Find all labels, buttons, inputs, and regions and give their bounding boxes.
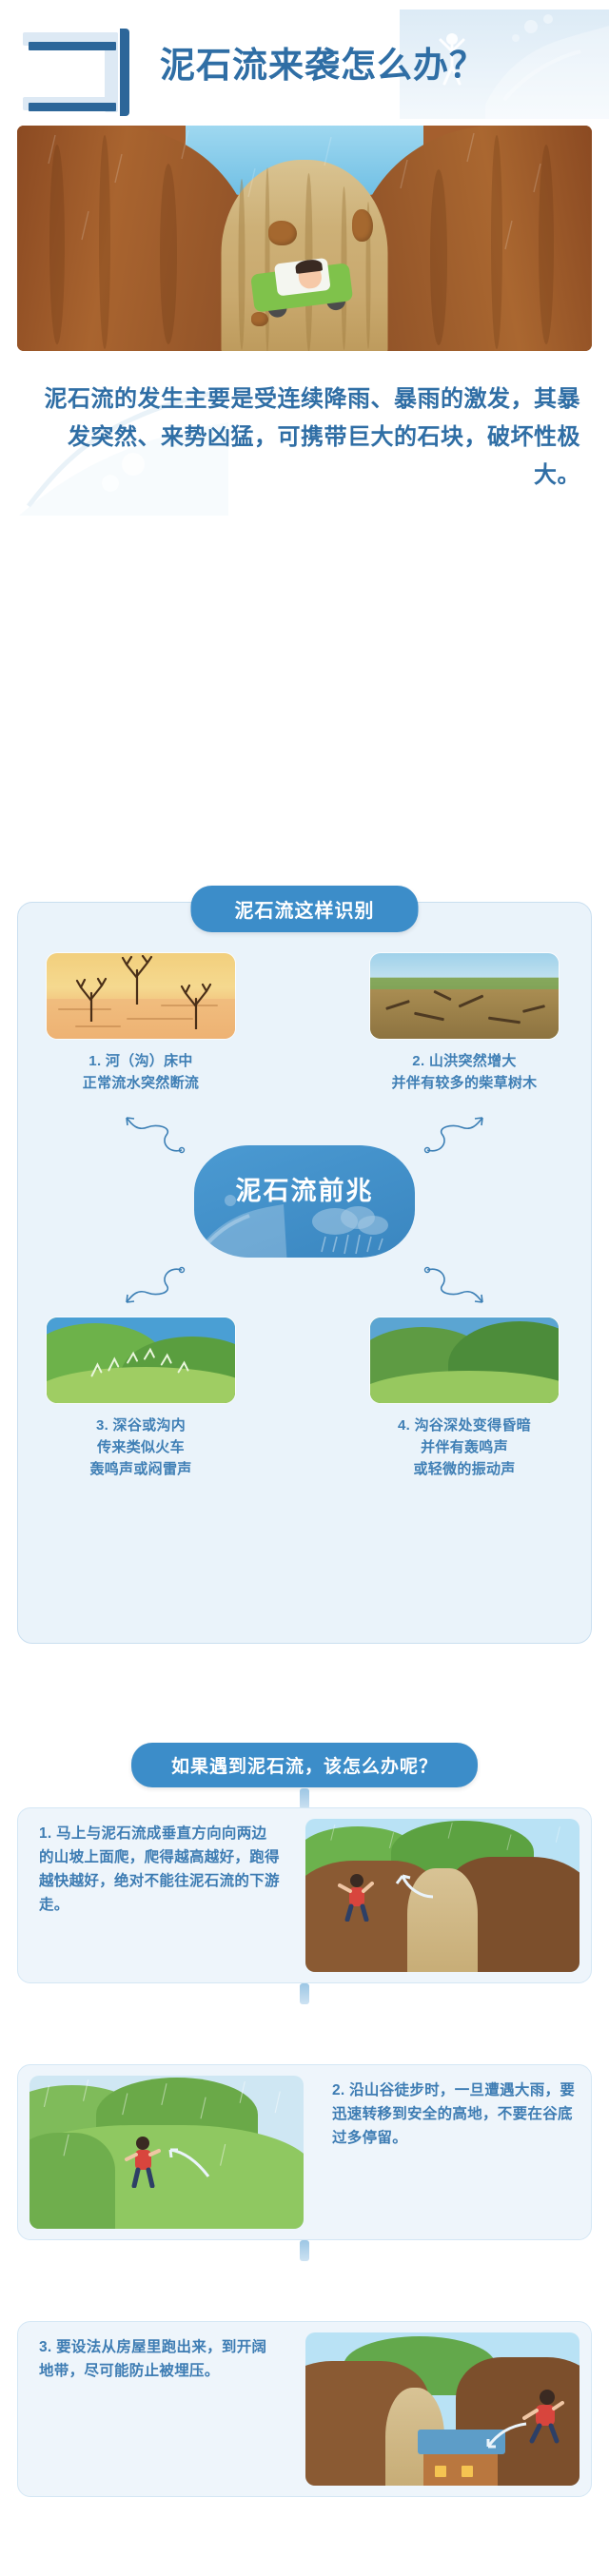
squiggle-arrow-topleft-icon xyxy=(123,1114,186,1156)
flood-debris-image xyxy=(369,952,560,1040)
action-card-1-text: 1. 马上与泥石流成垂直方向向两边的山坡上面爬，爬得越高越好，跑得越快越好，绝对… xyxy=(18,1808,294,1982)
identify-item-2-caption: 2. 山洪突然增大 并伴有较多的柴草树木 xyxy=(355,1050,574,1094)
precursor-bubble: 泥石流前兆 xyxy=(194,1145,415,1258)
section-number-badge xyxy=(17,27,129,118)
page-title: 泥石流来袭怎么办？ xyxy=(160,36,485,88)
rain-overlay xyxy=(29,2076,304,2229)
squiggle-arrow-bottomleft-icon xyxy=(123,1264,186,1306)
action-card-3-image xyxy=(305,2332,580,2486)
house-window xyxy=(462,2466,473,2477)
card-connector xyxy=(300,1788,309,1809)
dead-tree-icon xyxy=(180,982,212,1029)
squiggle-arrow-bottomright-icon xyxy=(423,1264,486,1306)
action-card-2-text: 2. 沿山谷徒步时，一旦遭遇大雨，要迅速转移到安全的高地，不要在谷底过多停留。 xyxy=(315,2065,591,2239)
squiggle-arrow-topright-icon xyxy=(423,1114,486,1156)
dark-valley-image xyxy=(369,1317,560,1404)
dead-tree-icon xyxy=(75,976,108,1022)
wave-splash-icon xyxy=(476,10,609,119)
identify-item-4-caption: 4. 沟谷深处变得昏暗 并伴有轰鸣声 或轻微的振动声 xyxy=(355,1415,574,1480)
precursor-label: 泥石流前兆 xyxy=(194,1170,415,1207)
valley-sound-image xyxy=(46,1317,236,1404)
action-card-3-text: 3. 要设法从房屋里跑出来，到开阔地带，尽可能防止被埋压。 xyxy=(18,2322,294,2496)
identify-section-title: 泥石流这样识别 xyxy=(191,886,419,932)
identify-item-2: 2. 山洪突然增大 并伴有较多的柴草树木 xyxy=(355,952,574,1094)
rain-overlay xyxy=(17,126,592,351)
sound-wave-icon xyxy=(47,1317,235,1404)
action-card-1: 1. 马上与泥石流成垂直方向向两边的山坡上面爬，爬得越高越好，跑得越快越好，绝对… xyxy=(17,1807,592,1983)
identify-item-4: 4. 沟谷深处变得昏暗 并伴有轰鸣声 或轻微的振动声 xyxy=(355,1317,574,1480)
identify-item-1-caption: 1. 河（沟）床中 正常流水突然断流 xyxy=(31,1050,250,1094)
action-section-title: 如果遇到泥石流，该怎么办呢？ xyxy=(131,1743,478,1787)
action-card-2-image xyxy=(29,2076,304,2229)
rain-cloud-icon xyxy=(303,1202,394,1258)
action-card-2: 2. 沿山谷徒步时，一旦遭遇大雨，要迅速转移到安全的高地，不要在谷底过多停留。 xyxy=(17,2064,592,2240)
house-window xyxy=(435,2466,446,2477)
identify-item-3: 3. 深谷或沟内 传来类似火车 轰鸣声或闷雷声 xyxy=(31,1317,250,1480)
hero-illustration xyxy=(17,126,592,351)
intro-section: 泥石流的发生主要是受连续降雨、暴雨的激发，其暴发突然、来势凶猛，可携带巨大的石块… xyxy=(0,363,609,516)
page-header: 泥石流来袭怎么办？ xyxy=(0,0,609,119)
action-card-3: 3. 要设法从房屋里跑出来，到开阔地带，尽可能防止被埋压。 xyxy=(17,2321,592,2497)
card-connector xyxy=(300,2240,309,2261)
dead-tree-icon xyxy=(121,955,153,1005)
rain-overlay xyxy=(305,1819,580,1972)
card-connector xyxy=(300,1983,309,2004)
escape-arrow-icon xyxy=(481,2416,534,2454)
action-card-1-image xyxy=(305,1819,580,1972)
identify-item-3-caption: 3. 深谷或沟内 传来类似火车 轰鸣声或闷雷声 xyxy=(31,1415,250,1480)
identify-item-1: 1. 河（沟）床中 正常流水突然断流 xyxy=(31,952,250,1094)
dry-riverbed-image xyxy=(46,952,236,1040)
intro-paragraph: 泥石流的发生主要是受连续降雨、暴雨的激发，其暴发突然、来势凶猛，可携带巨大的石块… xyxy=(38,381,580,495)
identify-section: 泥石流这样识别 1. 河（沟）床中 正常流水突然断流 xyxy=(17,902,592,1644)
